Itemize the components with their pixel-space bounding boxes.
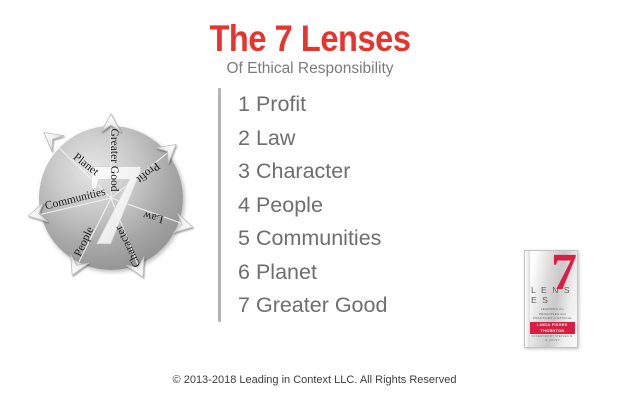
list-item[interactable]: 5Communities bbox=[238, 222, 498, 256]
list-item-label: People bbox=[256, 193, 323, 217]
list-divider bbox=[218, 88, 221, 322]
list-item-number: 6 bbox=[238, 260, 250, 284]
book-cover-thumbnail[interactable]: 7 L E N S E S LEARNING the PRINCIPLES an… bbox=[524, 250, 578, 348]
footer-copyright: © 2013-2018 Leading in Context LLC. All … bbox=[0, 374, 629, 386]
book-cover-foreword: FOREWORD BY STEPHEN M. R. COVEY bbox=[530, 335, 575, 343]
book-cover-author: LINDA FISHER THORNTON bbox=[530, 322, 575, 334]
book-cover-title: L E N S E S bbox=[531, 285, 577, 305]
list-item[interactable]: 7Greater Good bbox=[238, 289, 498, 323]
title-block: The 7 Lenses Of Ethical Responsibility bbox=[160, 20, 460, 77]
list-item-number: 3 bbox=[238, 159, 250, 183]
list-item-label: Profit bbox=[256, 92, 306, 116]
list-item[interactable]: 2Law bbox=[238, 122, 498, 156]
lens-list: 1Profit 2Law 3Character 4People 5Communi… bbox=[238, 88, 498, 323]
list-item-number: 2 bbox=[238, 126, 250, 150]
list-item[interactable]: 4People bbox=[238, 189, 498, 223]
list-item[interactable]: 6Planet bbox=[238, 256, 498, 290]
list-item-number: 4 bbox=[238, 193, 250, 217]
list-item-label: Planet bbox=[256, 260, 317, 284]
list-item[interactable]: 1Profit bbox=[238, 88, 498, 122]
list-item-number: 7 bbox=[238, 293, 250, 317]
wheel-label-greater-good: Greater Good bbox=[108, 129, 120, 192]
list-item-label: Greater Good bbox=[256, 293, 387, 317]
list-item-label: Character bbox=[256, 159, 350, 183]
list-item[interactable]: 3Character bbox=[238, 155, 498, 189]
list-item-number: 1 bbox=[238, 92, 250, 116]
list-item-label: Law bbox=[256, 126, 295, 150]
page-subtitle: Of Ethical Responsibility bbox=[160, 60, 460, 77]
lens-wheel-svg: 7 Greater Good Profit Law Character Peop… bbox=[18, 104, 204, 294]
lens-wheel-diagram: 7 Greater Good Profit Law Character Peop… bbox=[18, 104, 204, 294]
list-item-label: Communities bbox=[256, 226, 381, 250]
slide-canvas: The 7 Lenses Of Ethical Responsibility bbox=[0, 0, 629, 418]
list-item-number: 5 bbox=[238, 226, 250, 250]
page-title: The 7 Lenses bbox=[178, 20, 442, 57]
